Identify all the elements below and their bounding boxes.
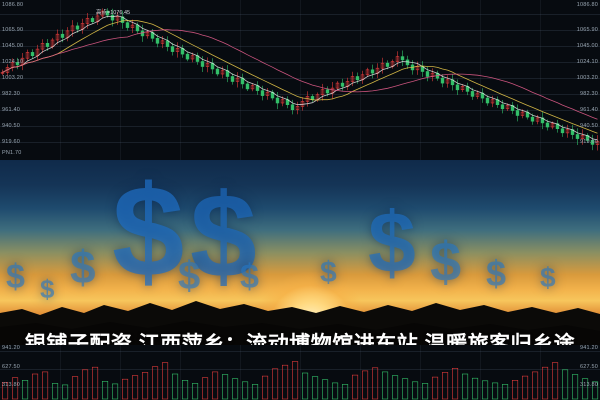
axis-label-left: 1045.00 xyxy=(2,43,23,49)
photo-banner: $ $ $ $ $ $ $ $ $ $ $ $ 银铺子配资 江西萍乡：流动博物馆… xyxy=(0,160,600,345)
axis-label-right: 1024.10 xyxy=(577,59,598,65)
corner-annotation: PN1.70 xyxy=(2,150,22,156)
axis-label-right: 941.20 xyxy=(580,345,598,351)
ma-mid-line xyxy=(3,21,598,134)
axis-label-right: 313.80 xyxy=(580,382,598,388)
axis-label-right: 1086.80 xyxy=(577,2,598,8)
screenshot-root: 1086.80 1065.90 1045.00 1024.10 1003.20 … xyxy=(0,0,600,400)
axis-label-left: 982.30 xyxy=(2,91,20,97)
axis-label-left: 1024.10 xyxy=(2,59,23,65)
axis-label-right: 1003.20 xyxy=(577,75,598,81)
candlestick-plot xyxy=(0,0,600,160)
ma-fast-line xyxy=(3,16,598,140)
dollar-sign-icon: $ xyxy=(430,234,461,290)
price-chart-panel: 1086.80 1065.90 1045.00 1024.10 1003.20 … xyxy=(0,0,600,160)
axis-label-right: 627.50 xyxy=(580,364,598,370)
candle-series xyxy=(1,8,599,150)
axis-label-left: 1003.20 xyxy=(2,75,23,81)
axis-label-left: 627.50 xyxy=(2,364,20,370)
dollar-sign-icon: $ xyxy=(112,166,184,296)
peak-annotation: 高点=1076.45 xyxy=(96,8,130,16)
axis-label-left: 961.40 xyxy=(2,107,20,113)
axis-label-right: 940.50 xyxy=(580,123,598,129)
axis-label-left: 313.80 xyxy=(2,382,20,388)
volume-plot xyxy=(0,345,600,400)
ma-slow-line xyxy=(3,30,598,120)
axis-label-left: 919.60 xyxy=(2,139,20,145)
dollar-sign-icon: $ xyxy=(368,200,416,286)
axis-label-right: 1065.90 xyxy=(577,27,598,33)
axis-label-right: 961.40 xyxy=(580,107,598,113)
axis-label-right: 1045.00 xyxy=(577,43,598,49)
axis-label-left: 941.20 xyxy=(2,345,20,351)
axis-label-left: 940.50 xyxy=(2,123,20,129)
volume-series xyxy=(2,362,598,400)
axis-label-left: 1086.80 xyxy=(2,2,23,8)
axis-label-right: 982.30 xyxy=(580,91,598,97)
page-title: 银铺子配资 江西萍乡：流动博物馆进车站 温暖旅客归乡途 xyxy=(18,328,582,345)
axis-label-left: 1065.90 xyxy=(2,27,23,33)
volume-chart-panel: 941.20 627.50 313.80 941.20 627.50 313.8… xyxy=(0,345,600,400)
axis-label-right: 919.60 xyxy=(580,139,598,145)
